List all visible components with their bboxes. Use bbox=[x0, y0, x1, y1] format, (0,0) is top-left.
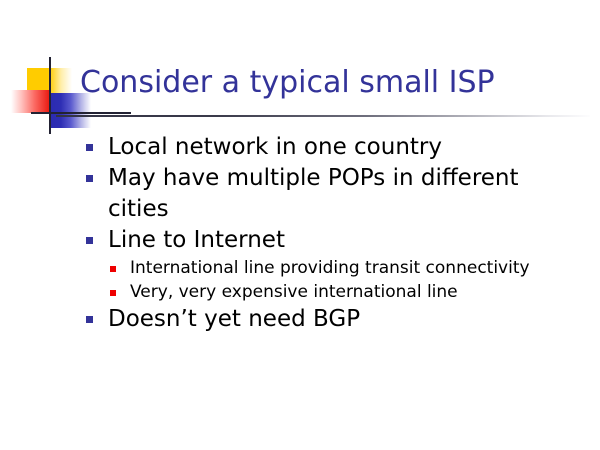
bullet-square-icon bbox=[86, 237, 93, 244]
list-item: Line to Internet bbox=[80, 225, 580, 256]
page-title: Consider a typical small ISP bbox=[80, 65, 580, 101]
list-item-label: Line to Internet bbox=[108, 225, 285, 256]
title-divider bbox=[56, 115, 590, 117]
yellow-square-icon bbox=[27, 68, 72, 98]
bullet-square-icon bbox=[86, 144, 93, 151]
sub-list-item: Very, very expensive international line bbox=[110, 280, 580, 304]
slide-body: Local network in one country May have mu… bbox=[80, 132, 580, 335]
sub-list-item: International line providing transit con… bbox=[110, 256, 580, 280]
list-item: Doesn’t yet need BGP bbox=[80, 304, 580, 335]
sub-list-item-label: Very, very expensive international line bbox=[130, 280, 458, 304]
vertical-rule-icon bbox=[49, 57, 51, 134]
sub-bullet-square-icon bbox=[110, 266, 116, 272]
horizontal-rule-icon bbox=[31, 112, 131, 114]
bullet-square-icon bbox=[86, 316, 93, 323]
sub-list-item-label: International line providing transit con… bbox=[130, 256, 530, 280]
list-item-label: Doesn’t yet need BGP bbox=[108, 304, 360, 335]
list-item: May have multiple POPs in different citi… bbox=[80, 163, 580, 225]
presentation-slide: Consider a typical small ISP Local netwo… bbox=[0, 0, 600, 450]
bullet-square-icon bbox=[86, 175, 93, 182]
red-square-icon bbox=[11, 90, 49, 113]
sub-bullet-square-icon bbox=[110, 290, 116, 296]
list-item-label: Local network in one country bbox=[108, 132, 442, 163]
list-item: Local network in one country bbox=[80, 132, 580, 163]
list-item-label: May have multiple POPs in different citi… bbox=[108, 163, 538, 225]
